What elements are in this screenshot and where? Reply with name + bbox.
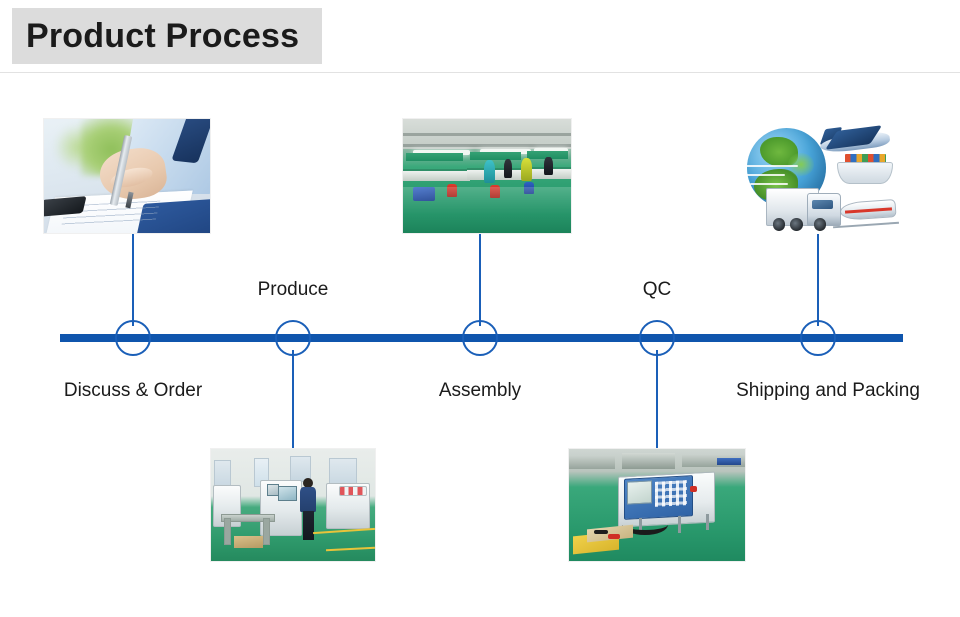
qc-testing-photo	[568, 448, 746, 562]
title-band: Product Process	[12, 8, 322, 64]
step-label-qc: QC	[643, 279, 672, 301]
timeline-node-5[interactable]	[800, 320, 836, 356]
step-label-assembly: Assembly	[439, 380, 521, 402]
production-workshop-photo	[210, 448, 376, 562]
header-divider	[0, 72, 960, 73]
global-logistics-photo	[740, 118, 900, 234]
page-title: Product Process	[12, 19, 299, 53]
assembly-line-photo	[402, 118, 572, 234]
global-logistics-art	[741, 119, 899, 233]
timeline-node-4[interactable]	[639, 320, 675, 356]
step-label-discuss-order: Discuss & Order	[64, 380, 202, 402]
connector-step-4	[656, 350, 658, 450]
production-workshop-art	[211, 449, 375, 561]
connector-step-1	[132, 234, 134, 326]
timeline-node-1[interactable]	[115, 320, 151, 356]
product-process-slide: Product Process	[0, 0, 960, 617]
connector-step-3	[479, 234, 481, 326]
assembly-line-art	[403, 119, 571, 233]
connector-step-2	[292, 350, 294, 450]
connector-step-5	[817, 234, 819, 326]
contract-signing-photo	[43, 118, 211, 234]
step-label-shipping-packing: Shipping and Packing	[736, 380, 920, 402]
contract-signing-art	[44, 119, 210, 233]
timeline-node-2[interactable]	[275, 320, 311, 356]
step-label-produce: Produce	[258, 279, 329, 301]
timeline-node-3[interactable]	[462, 320, 498, 356]
qc-testing-art	[569, 449, 745, 561]
